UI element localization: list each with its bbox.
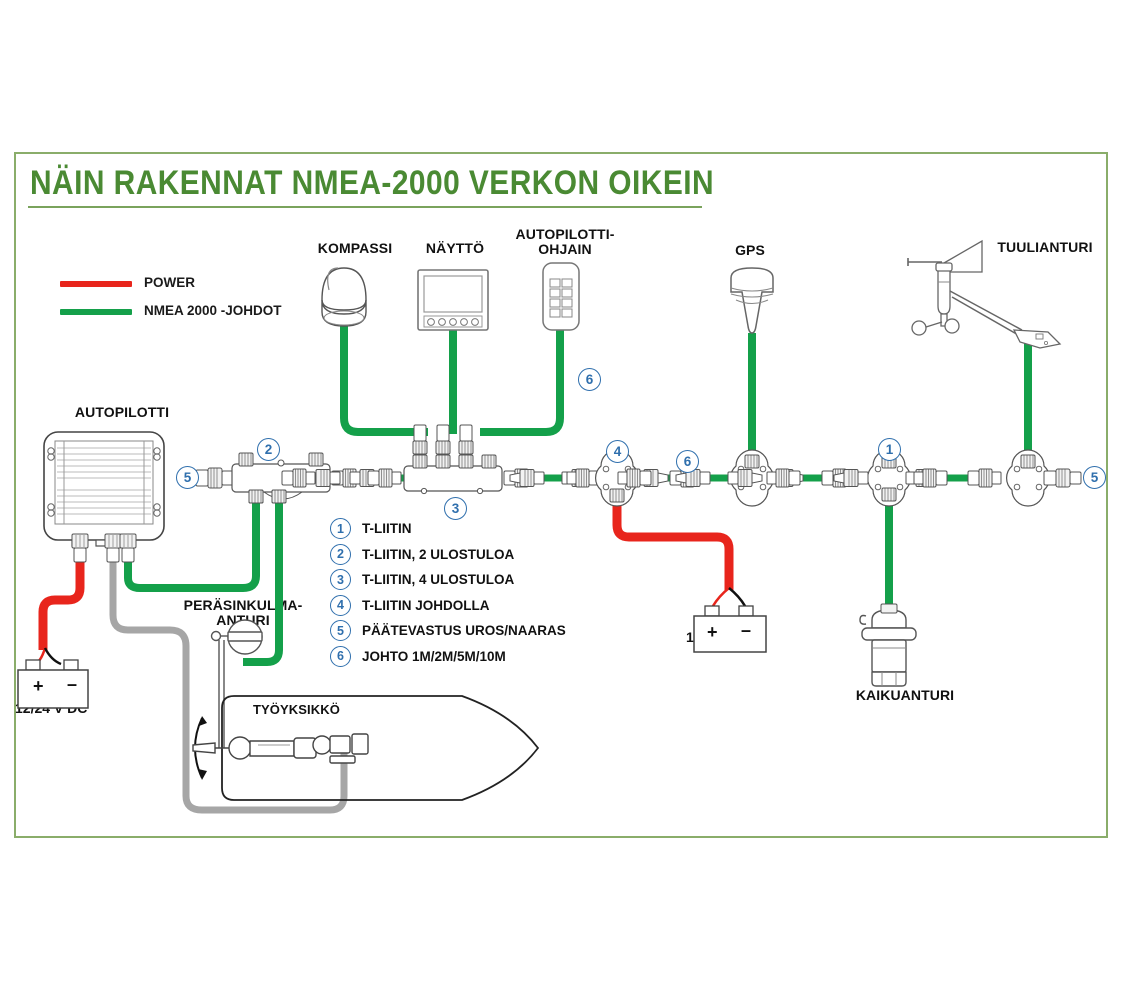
autopilot-connector-signal xyxy=(105,534,121,562)
t-connector-wind xyxy=(1007,450,1050,506)
key-badge: 4 xyxy=(330,595,351,616)
key-label: T-LIITIN, 4 ULOSTULOA xyxy=(362,572,514,587)
badge-terminator-right: 5 xyxy=(1083,466,1106,489)
key-badge: 3 xyxy=(330,569,351,590)
battery-right: + – xyxy=(694,588,766,652)
key-item: 1 T-LIITIN xyxy=(330,516,630,542)
key-badge: 5 xyxy=(330,620,351,641)
key-label: T-LIITIN JOHDOLLA xyxy=(362,598,490,613)
badge-t-two-port: 2 xyxy=(257,438,280,461)
svg-text:+: + xyxy=(707,622,718,642)
diagram-canvas: NÄIN RAKENNAT NMEA-2000 VERKON OIKEIN PO… xyxy=(0,0,1128,1000)
key-item: 3 T-LIITIN, 4 ULOSTULOA xyxy=(330,567,630,593)
autopilot-connector-nmea xyxy=(120,534,136,562)
svg-text:+: + xyxy=(33,676,44,696)
badge-t-connector-gps: 1 xyxy=(878,438,901,461)
autopilot-unit xyxy=(44,432,164,562)
display-device xyxy=(418,270,488,330)
badge-t-with-cable: 4 xyxy=(606,440,629,463)
autopilot-connector-power xyxy=(72,534,88,562)
key-item: 4 T-LIITIN JOHDOLLA xyxy=(330,593,630,619)
rudder-sensor-device xyxy=(212,620,263,748)
key-badge: 6 xyxy=(330,646,351,667)
battery-left: + – xyxy=(18,648,88,708)
key-item: 5 PÄÄTEVASTUS UROS/NAARAS xyxy=(330,618,630,644)
key-item: 6 JOHTO 1M/2M/5M/10M xyxy=(330,644,630,670)
t-connector-4-port xyxy=(404,455,502,494)
transducer-device xyxy=(860,604,916,686)
key-label: T-LIITIN xyxy=(362,521,412,536)
key-item: 2 T-LIITIN, 2 ULOSTULOA xyxy=(330,542,630,568)
key-label: JOHTO 1M/2M/5M/10M xyxy=(362,649,506,664)
badge-cable-display: 6 xyxy=(578,368,601,391)
autopilot-controller-device xyxy=(543,263,579,330)
parts-key-list: 1 T-LIITIN 2 T-LIITIN, 2 ULOSTULOA 3 T-L… xyxy=(330,516,630,669)
gps-device xyxy=(731,268,773,333)
svg-text:–: – xyxy=(67,674,77,694)
svg-text:–: – xyxy=(741,620,751,640)
signal-cables xyxy=(113,560,344,810)
key-label: T-LIITIN, 2 ULOSTULOA xyxy=(362,547,514,562)
compass-device xyxy=(322,268,366,326)
badge-cable-backbone: 6 xyxy=(676,450,699,473)
key-badge: 2 xyxy=(330,544,351,565)
key-label: PÄÄTEVASTUS UROS/NAARAS xyxy=(362,623,566,638)
backbone-trunk xyxy=(196,425,1081,506)
diagram-artwork: + – + – xyxy=(0,0,1128,1000)
key-badge: 1 xyxy=(330,518,351,539)
wind-sensor-device xyxy=(908,241,1060,348)
badge-terminator-left: 5 xyxy=(176,466,199,489)
